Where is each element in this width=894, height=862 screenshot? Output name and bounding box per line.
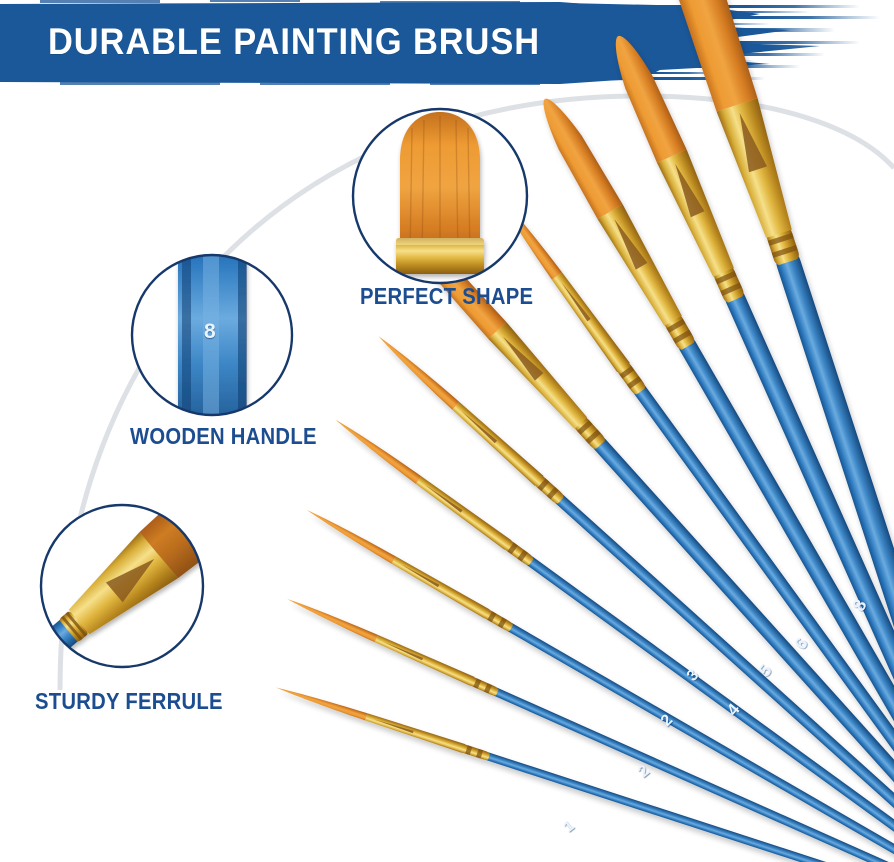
callout-perfect-shape [353, 109, 527, 283]
callout-sturdy-ferrule [9, 487, 231, 688]
product-image: DURABLE PAINTING BRUSH [0, 0, 894, 862]
callout-wooden-handle [132, 222, 292, 452]
callout-label-sturdy-ferrule: STURDY FERRULE [35, 688, 223, 715]
callout-label-wooden-handle: WOODEN HANDLE [130, 423, 317, 450]
callout-label-perfect-shape: PERFECT SHAPE [360, 283, 533, 310]
brush-2a [285, 594, 894, 862]
brush-fan [274, 0, 894, 862]
